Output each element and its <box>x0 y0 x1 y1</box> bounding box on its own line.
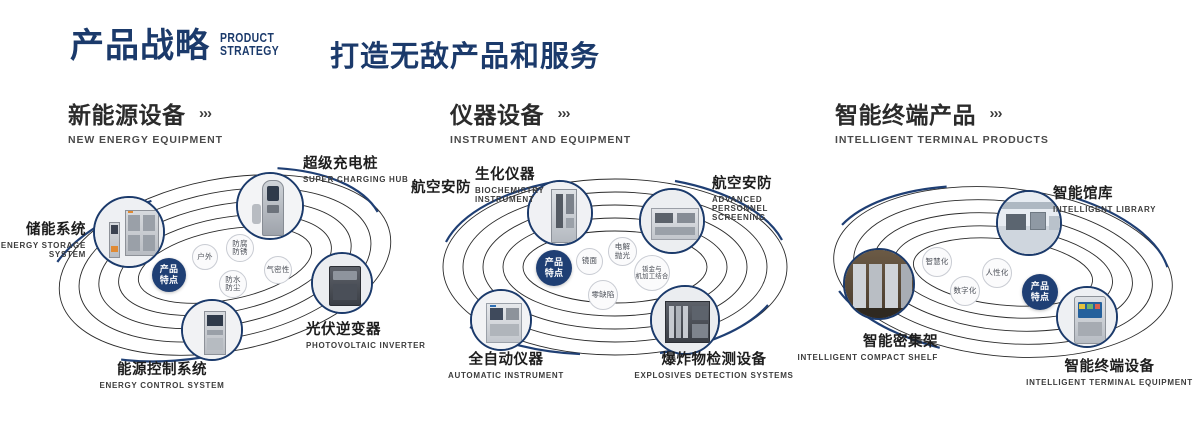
core-label-line1: 产品 <box>1031 281 1049 291</box>
super-charging-hub-photo <box>238 174 302 238</box>
node-energy-control-system[interactable] <box>181 299 243 361</box>
caption-cn: 超级充电桩 <box>303 152 409 173</box>
caption-intelligent-terminal-equipment: 智能终端设备 INTELLIGENT TERMINAL EQUIPMENT <box>1022 355 1197 387</box>
section-heading-en: INTELLIGENT TERMINAL PRODUCTS <box>835 134 1049 146</box>
node-explosives-detection-systems[interactable] <box>650 285 720 355</box>
caption-en: SUPER CHARGING HUB <box>303 175 409 184</box>
feature-bubble-label-line2: 防锈 <box>232 247 247 256</box>
core-bubble-instrument[interactable]: 产品 特点 <box>536 250 572 286</box>
caption-intelligent-compact-shelf: 智能密集架 INTELLIGENT COMPACT SHELF <box>790 330 938 362</box>
caption-en: PHOTOVOLTAIC INVERTER <box>306 341 426 350</box>
automatic-instrument-photo <box>472 291 530 349</box>
section-heading-instrument: 仪器设备 ››› INSTRUMENT AND EQUIPMENT <box>450 96 631 146</box>
section-heading-en: INSTRUMENT AND EQUIPMENT <box>450 134 631 146</box>
feature-bubble-label: 人性化 <box>985 269 1008 277</box>
caption-cn: 全自动仪器 <box>432 348 580 369</box>
section-heading-en: NEW ENERGY EQUIPMENT <box>68 134 223 146</box>
caption-cn: 爆炸物检测设备 <box>624 348 804 369</box>
section-heading-new-energy: 新能源设备 ››› NEW ENERGY EQUIPMENT <box>68 96 223 146</box>
section-heading-cn: 仪器设备 <box>450 96 544 130</box>
caption-energy-storage-system: 储能系统 ENERGY STORAGE SYSTEM <box>0 218 86 259</box>
core-label-line2: 特点 <box>160 275 178 285</box>
core-label-line2: 特点 <box>545 268 563 278</box>
feature-bubble-label: 智慧化 <box>925 258 948 266</box>
page-title-english: PRODUCT STRATEGY <box>220 31 279 57</box>
node-automatic-instrument[interactable] <box>470 289 532 351</box>
section-heading-cn: 智能终端产品 <box>835 96 976 130</box>
chevron-right-icon: ››› <box>199 105 211 122</box>
caption-cn: 储能系统 <box>0 218 86 239</box>
feature-bubble-label: 户外 <box>197 253 212 261</box>
feature-bubble-label: 气密性 <box>266 266 289 274</box>
core-bubble-new-energy[interactable]: 产品 特点 <box>152 258 186 292</box>
feature-bubble-airtightness[interactable]: 气密性 <box>264 256 292 284</box>
caption-super-charging-hub: 超级充电桩 SUPER CHARGING HUB <box>303 152 409 184</box>
feature-bubble-mirror-finish[interactable]: 镜面 <box>576 248 603 275</box>
caption-cn: 智能密集架 <box>790 330 938 351</box>
caption-en: ENERGY STORAGE SYSTEM <box>0 241 86 259</box>
feature-bubble-label-line2: 机加工结合 <box>636 273 669 280</box>
caption-biochemistry-instrument: 生化仪器 BIOCHEMISTRY INSTRUMENT <box>475 163 555 204</box>
intelligent-terminal-equipment-photo <box>1058 288 1116 346</box>
feature-bubble-label: 镜面 <box>582 257 597 265</box>
node-intelligent-terminal-equipment[interactable] <box>1056 286 1118 348</box>
caption-en: INTELLIGENT TERMINAL EQUIPMENT <box>1022 378 1197 387</box>
feature-bubble-electropolishing[interactable]: 电解 抛光 <box>608 237 637 266</box>
caption-cn: 生化仪器 <box>475 163 555 184</box>
caption-cn: 智能终端设备 <box>1022 355 1197 376</box>
section-heading-intelligent-terminal: 智能终端产品 ››› INTELLIGENT TERMINAL PRODUCTS <box>835 96 1049 146</box>
feature-bubble-label-line2: 防尘 <box>225 283 240 292</box>
caption-advanced-personnel-screening: 航空安防 ADVANCED PERSONNEL SCREENING <box>712 172 804 222</box>
poster-header: 产品战略 PRODUCT STRATEGY <box>70 26 294 66</box>
node-intelligent-compact-shelf[interactable] <box>843 248 915 320</box>
feature-bubble-label: 数字化 <box>953 287 976 295</box>
caption-cn: 智能馆库 <box>1053 182 1156 203</box>
caption-en: BIOCHEMISTRY INSTRUMENT <box>475 186 555 204</box>
intelligent-compact-shelf-photo <box>845 250 913 318</box>
caption-en: ADVANCED PERSONNEL SCREENING <box>712 195 804 222</box>
caption-energy-control-system: 能源控制系统 ENERGY CONTROL SYSTEM <box>78 358 246 390</box>
core-bubble-intelligent-terminal[interactable]: 产品 特点 <box>1022 274 1058 310</box>
poster-canvas: 产品战略 PRODUCT STRATEGY 打造无敌产品和服务 新能源设备 ››… <box>0 0 1200 422</box>
node-photovoltaic-inverter[interactable] <box>311 252 373 314</box>
caption-aviation-security-left: 航空安防 <box>411 176 471 197</box>
feature-bubble-digitalized[interactable]: 数字化 <box>950 276 980 306</box>
caption-intelligent-library: 智能馆库 INTELLIGENT LIBRARY <box>1053 182 1156 214</box>
core-label-line2: 特点 <box>1031 292 1049 302</box>
energy-control-system-photo <box>183 301 241 359</box>
feature-bubble-humanized[interactable]: 人性化 <box>982 258 1012 288</box>
caption-en: INTELLIGENT COMPACT SHELF <box>790 353 938 362</box>
feature-bubble-label-line2: 抛光 <box>615 251 630 260</box>
caption-cn: 航空安防 <box>712 172 804 193</box>
page-title: 产品战略 <box>70 26 210 66</box>
node-super-charging-hub[interactable] <box>236 172 304 240</box>
caption-en: INTELLIGENT LIBRARY <box>1053 205 1156 214</box>
caption-en: ENERGY CONTROL SYSTEM <box>78 381 246 390</box>
caption-cn: 光伏逆变器 <box>306 318 426 339</box>
page-title-english-line2: STRATEGY <box>220 44 279 57</box>
caption-automatic-instrument: 全自动仪器 AUTOMATIC INSTRUMENT <box>432 348 580 380</box>
explosives-detection-photo <box>652 287 718 353</box>
feature-bubble-waterproof[interactable]: 防水 防尘 <box>219 270 247 298</box>
caption-en: AUTOMATIC INSTRUMENT <box>432 371 580 380</box>
feature-bubble-label-line1: 钣金与 <box>642 266 662 273</box>
core-label-line1: 产品 <box>160 264 178 274</box>
chevron-right-icon: ››› <box>557 105 569 122</box>
feature-bubble-label: 零缺陷 <box>591 291 614 299</box>
core-label-line1: 产品 <box>545 257 563 267</box>
caption-explosives-detection-systems: 爆炸物检测设备 EXPLOSIVES DETECTION SYSTEMS <box>624 348 804 380</box>
node-advanced-personnel-screening[interactable] <box>639 188 705 254</box>
feature-bubble-zero-defect[interactable]: 零缺陷 <box>588 280 618 310</box>
page-subtitle: 打造无敌产品和服务 <box>330 33 600 75</box>
chevron-right-icon: ››› <box>989 105 1001 122</box>
feature-bubble-anticorrosion[interactable]: 防腐 防锈 <box>226 234 254 262</box>
feature-bubble-smart[interactable]: 智慧化 <box>922 247 952 277</box>
energy-storage-photo <box>95 198 163 266</box>
feature-bubble-sheetmetal-machining[interactable]: 钣金与 机加工结合 <box>634 255 670 291</box>
caption-en: EXPLOSIVES DETECTION SYSTEMS <box>624 371 804 380</box>
intelligent-library-photo <box>998 192 1060 254</box>
node-energy-storage-system[interactable] <box>93 196 165 268</box>
photovoltaic-inverter-photo <box>313 254 371 312</box>
feature-bubble-outdoor[interactable]: 户外 <box>192 244 218 270</box>
caption-cn: 航空安防 <box>411 176 471 197</box>
section-heading-cn: 新能源设备 <box>68 96 186 130</box>
advanced-personnel-screening-photo <box>641 190 703 252</box>
caption-photovoltaic-inverter: 光伏逆变器 PHOTOVOLTAIC INVERTER <box>306 318 426 350</box>
caption-cn: 能源控制系统 <box>78 358 246 379</box>
